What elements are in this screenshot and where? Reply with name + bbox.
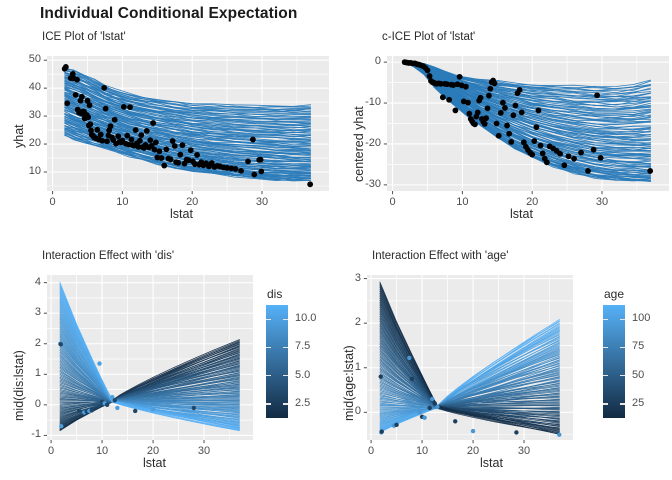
iage-ytick-2: 2 bbox=[325, 316, 361, 328]
dis-legend-label-7.5: 7.5 bbox=[295, 340, 310, 352]
dis-legend-tick bbox=[266, 403, 271, 404]
age-legend-label-25: 25 bbox=[632, 397, 644, 409]
age-legend-tick bbox=[620, 319, 625, 320]
cice-ytick--20: -20 bbox=[345, 137, 381, 149]
dis-legend-tick bbox=[266, 319, 271, 320]
panel-cice-title: c-ICE Plot of 'lstat' bbox=[382, 31, 475, 43]
age-legend-label-100: 100 bbox=[632, 312, 650, 324]
iage-ytick-3: 3 bbox=[325, 272, 361, 284]
dis-legend-label-2.5: 2.5 bbox=[295, 397, 310, 409]
idis-ytick-3: 3 bbox=[5, 306, 41, 318]
iage-xtick-0: 0 bbox=[357, 445, 385, 457]
dis-legend-label-5.0: 5.0 bbox=[295, 369, 310, 381]
idis-ytick-0: 0 bbox=[5, 398, 41, 410]
dis-legend-tick bbox=[266, 347, 271, 348]
idis-xtick-0: 0 bbox=[37, 445, 65, 457]
age-legend-tick bbox=[620, 375, 625, 376]
legend-title-age: age bbox=[604, 287, 624, 301]
iage-xtick-20: 20 bbox=[459, 445, 487, 457]
ice-ytick-10: 10 bbox=[5, 165, 41, 177]
panel-interaction-age-xlabel: lstat bbox=[480, 456, 503, 470]
cice-xtick-10: 10 bbox=[448, 196, 476, 208]
ice-xtick-30: 30 bbox=[248, 196, 276, 208]
dis-legend-tick bbox=[283, 319, 288, 320]
cice-ytick--10: -10 bbox=[345, 96, 381, 108]
dis-legend-tick bbox=[283, 375, 288, 376]
idis-ytick-4: 4 bbox=[5, 276, 41, 288]
cice-xtick-0: 0 bbox=[379, 196, 407, 208]
cice-xtick-20: 20 bbox=[518, 196, 546, 208]
age-legend-tick bbox=[603, 403, 608, 404]
iage-ytick-0: 0 bbox=[325, 405, 361, 417]
ice-xtick-20: 20 bbox=[178, 196, 206, 208]
panel-ice-xlabel: lstat bbox=[170, 207, 193, 221]
dis-legend-label-10.0: 10.0 bbox=[295, 312, 316, 324]
idis-xtick-30: 30 bbox=[190, 445, 218, 457]
dis-legend-tick bbox=[266, 375, 271, 376]
idis-ytick-1: 1 bbox=[5, 367, 41, 379]
ice-ytick-50: 50 bbox=[5, 53, 41, 65]
iage-xtick-10: 10 bbox=[408, 445, 436, 457]
ice-ytick-40: 40 bbox=[5, 81, 41, 93]
cice-ytick-0: 0 bbox=[345, 55, 381, 67]
idis-xtick-10: 10 bbox=[88, 445, 116, 457]
panel-interaction-dis-ylabel: mid(dis:lstat) bbox=[12, 350, 26, 421]
age-legend-label-75: 75 bbox=[632, 340, 644, 352]
iage-ytick-1: 1 bbox=[325, 361, 361, 373]
legend-title-dis: dis bbox=[267, 287, 282, 301]
age-legend-label-50: 50 bbox=[632, 369, 644, 381]
idis-ytick-2: 2 bbox=[5, 337, 41, 349]
panel-interaction-dis-title: Interaction Effect with 'dis' bbox=[42, 250, 174, 262]
ice-xtick-10: 10 bbox=[108, 196, 136, 208]
age-legend-tick bbox=[620, 403, 625, 404]
age-legend-tick bbox=[603, 347, 608, 348]
ice-ytick-30: 30 bbox=[5, 109, 41, 121]
cice-xtick-30: 30 bbox=[588, 196, 616, 208]
ice-ytick-20: 20 bbox=[5, 137, 41, 149]
iage-xtick-30: 30 bbox=[510, 445, 538, 457]
legend-colorbar-dis[interactable] bbox=[266, 305, 288, 418]
cice-ytick--30: -30 bbox=[345, 178, 381, 190]
idis-ytick--1: -1 bbox=[5, 428, 41, 440]
ice-xtick-0: 0 bbox=[39, 196, 67, 208]
figure-root: Individual Conditional Expectation ICE P… bbox=[0, 0, 672, 480]
dis-legend-tick bbox=[283, 347, 288, 348]
panel-interaction-age-title: Interaction Effect with 'age' bbox=[372, 250, 509, 262]
age-legend-tick bbox=[603, 319, 608, 320]
page-title: Individual Conditional Expectation bbox=[40, 5, 297, 23]
legend-colorbar-age[interactable] bbox=[603, 305, 625, 418]
idis-xtick-20: 20 bbox=[139, 445, 167, 457]
panel-ice-title: ICE Plot of 'lstat' bbox=[42, 31, 126, 43]
dis-legend-tick bbox=[283, 403, 288, 404]
panel-cice-xlabel: lstat bbox=[510, 207, 533, 221]
age-legend-tick bbox=[603, 375, 608, 376]
panel-interaction-dis-xlabel: lstat bbox=[143, 456, 166, 470]
age-legend-tick bbox=[620, 347, 625, 348]
